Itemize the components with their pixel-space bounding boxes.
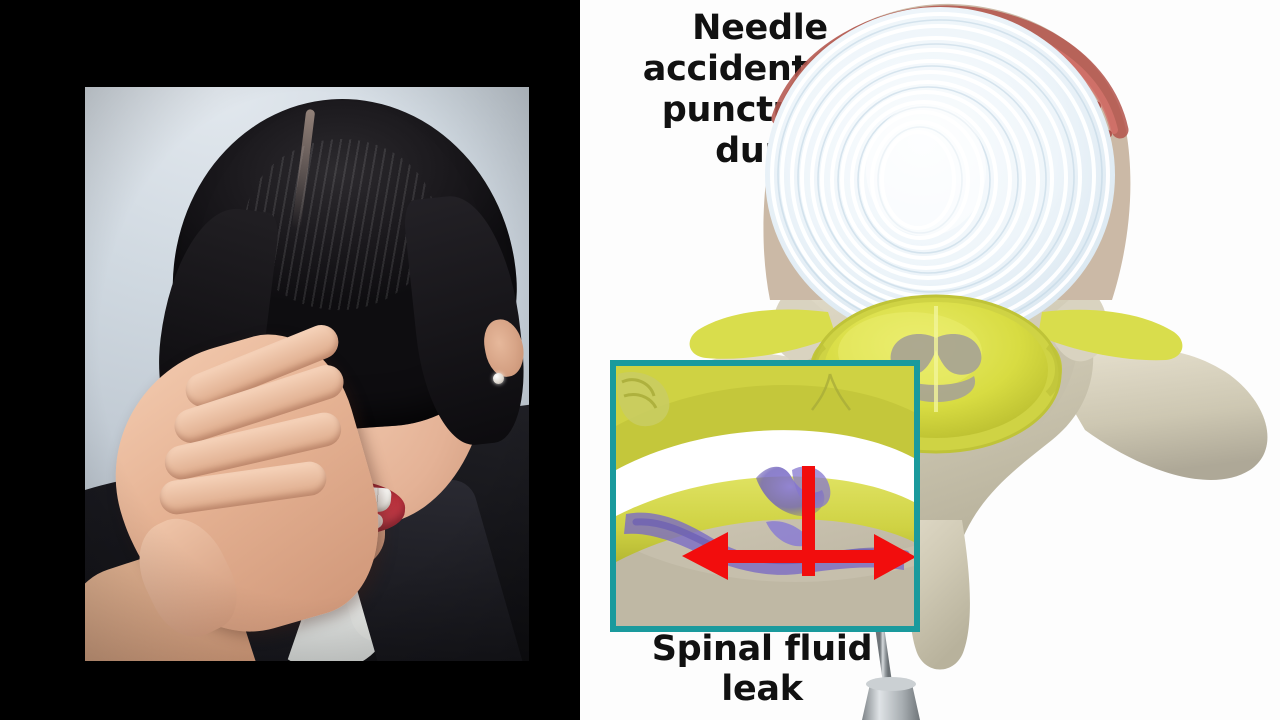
left-photo-panel <box>0 0 580 720</box>
caption-bottom-line-1: Spinal fluid <box>602 630 922 670</box>
caption-bottom-line-2: leak <box>602 670 922 710</box>
patient-photo <box>85 87 529 661</box>
spinal-fluid-leak-inset <box>610 360 920 632</box>
earring <box>493 373 504 384</box>
right-illustration-panel: Needle accidentally punctures dura <box>580 0 1280 720</box>
intervertebral-disc <box>763 4 1130 343</box>
inset-illustration <box>616 366 914 626</box>
slide-root: Needle accidentally punctures dura <box>0 0 1280 720</box>
caption-spinal-fluid-leak: Spinal fluid leak <box>602 630 922 709</box>
